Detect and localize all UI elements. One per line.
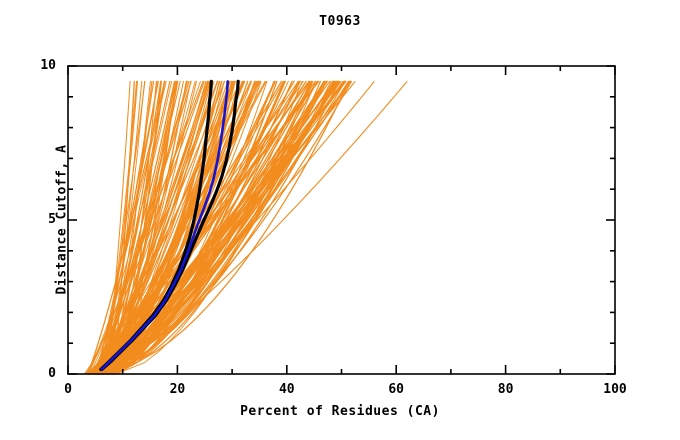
y-tick-label: 10	[0, 58, 56, 73]
page-title: T0963	[0, 14, 680, 29]
y-tick-label: 5	[0, 212, 56, 227]
x-tick-label: 20	[155, 382, 199, 397]
x-tick-label: 100	[593, 382, 637, 397]
x-tick-label: 60	[374, 382, 418, 397]
prediction-curves-bundle	[85, 81, 408, 374]
x-tick-label: 40	[265, 382, 309, 397]
x-axis-label: Percent of Residues (CA)	[0, 404, 680, 419]
chart-figure: T0963 Percent of Residues (CA) Distance …	[0, 0, 680, 440]
y-axis-label: Distance Cutoff, A	[55, 70, 70, 370]
plot-canvas	[0, 0, 680, 440]
y-tick-label: 0	[0, 366, 56, 381]
x-tick-label: 80	[484, 382, 528, 397]
x-tick-label: 0	[46, 382, 90, 397]
